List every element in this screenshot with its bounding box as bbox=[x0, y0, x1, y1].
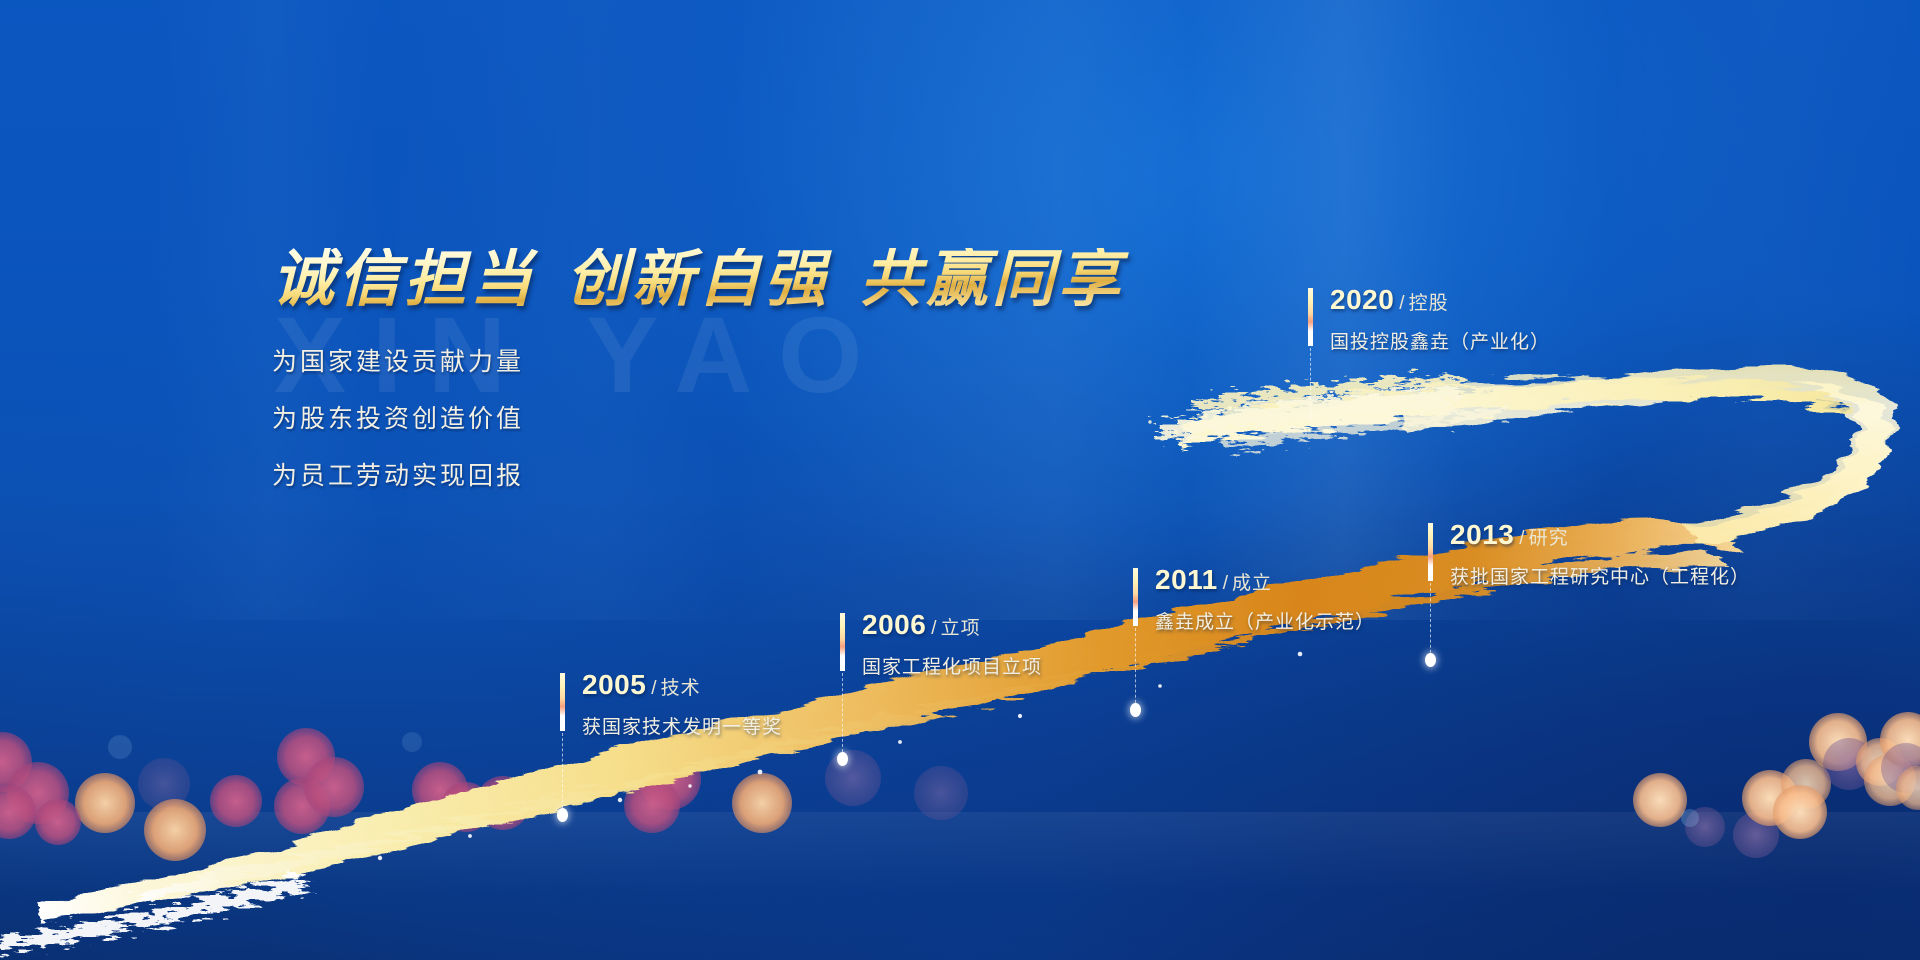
milestone-dot-2005 bbox=[557, 808, 568, 822]
milestone-description: 国家工程化项目立项 bbox=[862, 652, 1042, 679]
milestone-year: 2013 bbox=[1450, 519, 1514, 550]
milestone-text: 2005/技术 获国家技术发明一等奖 bbox=[582, 669, 782, 739]
milestone-connector-2011 bbox=[1135, 628, 1136, 708]
tagline-item-2: 为员工劳动实现回报 bbox=[272, 464, 1232, 489]
milestone-accent-bar bbox=[560, 673, 565, 731]
milestone-year: 2006 bbox=[862, 609, 926, 640]
milestone-separator: / bbox=[1399, 293, 1404, 314]
milestone-connector-2020 bbox=[1310, 348, 1311, 420]
milestone-tag: 成立 bbox=[1232, 573, 1272, 594]
milestone-separator: / bbox=[651, 678, 656, 699]
tagline-item-1: 为股东投资创造价值 bbox=[272, 407, 1232, 432]
milestone-separator: / bbox=[1223, 573, 1228, 594]
milestone-description: 鑫垚成立（产业化示范） bbox=[1155, 607, 1375, 634]
milestone-accent-bar bbox=[1428, 523, 1433, 581]
milestone-tag: 技术 bbox=[661, 678, 701, 699]
milestone-description: 国投控股鑫垚（产业化） bbox=[1330, 327, 1550, 354]
milestone-tag: 立项 bbox=[941, 618, 981, 639]
milestone-separator: / bbox=[1519, 528, 1524, 549]
milestone-text: 2020/控股 国投控股鑫垚（产业化） bbox=[1330, 284, 1550, 354]
milestone-connector-2006 bbox=[842, 673, 843, 757]
headline-part-1: 诚信担当 bbox=[272, 242, 536, 315]
milestone-description: 获批国家工程研究中心（工程化） bbox=[1450, 562, 1750, 589]
milestone-dot-2011 bbox=[1130, 703, 1141, 717]
milestone-year: 2011 bbox=[1155, 564, 1218, 595]
milestone-accent-bar bbox=[1133, 568, 1138, 626]
banner-canvas: XIN YAO 诚信担当创新自强共赢同享 为国家建设贡献力量 为股东投资创造价值… bbox=[0, 0, 1920, 960]
milestone-text: 2011/成立 鑫垚成立（产业化示范） bbox=[1155, 564, 1375, 634]
milestone-accent-bar bbox=[1308, 288, 1313, 346]
milestone-text: 2006/立项 国家工程化项目立项 bbox=[862, 609, 1042, 679]
milestone-tag: 控股 bbox=[1409, 293, 1449, 314]
milestone-text: 2013/研究 获批国家工程研究中心（工程化） bbox=[1450, 519, 1750, 589]
milestone-year: 2005 bbox=[582, 669, 646, 700]
headline-part-3: 共赢同享 bbox=[860, 242, 1124, 315]
milestone-connector-2005 bbox=[562, 733, 563, 813]
headline-block: XIN YAO 诚信担当创新自强共赢同享 为国家建设贡献力量 为股东投资创造价值… bbox=[272, 248, 1232, 489]
milestone-dot-2006 bbox=[837, 752, 848, 766]
milestone-connector-2013 bbox=[1430, 583, 1431, 658]
tagline-item-0: 为国家建设贡献力量 bbox=[272, 350, 1232, 375]
tagline-list: 为国家建设贡献力量 为股东投资创造价值 为员工劳动实现回报 bbox=[272, 350, 1232, 489]
milestone-accent-bar bbox=[840, 613, 845, 671]
milestone-year: 2020 bbox=[1330, 284, 1394, 315]
milestone-separator: / bbox=[931, 618, 936, 639]
milestone-tag: 研究 bbox=[1529, 528, 1569, 549]
page-title: 诚信担当创新自强共赢同享 bbox=[272, 248, 1232, 310]
headline-part-2: 创新自强 bbox=[566, 242, 830, 315]
milestone-description: 获国家技术发明一等奖 bbox=[582, 712, 782, 739]
milestone-dot-2013 bbox=[1425, 653, 1436, 667]
